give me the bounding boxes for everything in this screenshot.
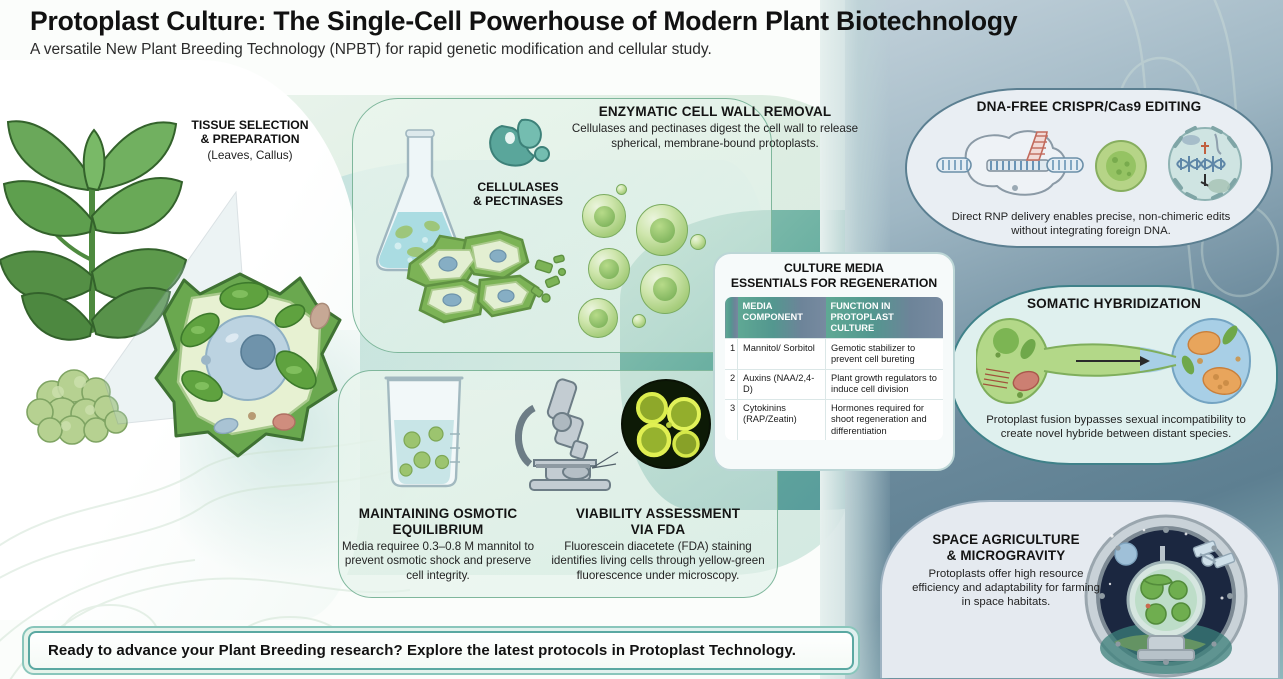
col-function-line1: FUNCTION IN: [831, 301, 939, 312]
col-function-line2: PROTOPLAST CULTURE: [831, 312, 939, 334]
col-component: MEDIA COMPONENT: [738, 297, 826, 339]
cta-text: Ready to advance your Plant Breeding res…: [48, 642, 796, 659]
enzymatic-body: Cellulases and pectinases digest the cel…: [548, 122, 882, 151]
viability-title-line2: VIA FDA: [540, 522, 776, 538]
hybrid-title: SOMATIC HYBRIDIZATION: [952, 296, 1276, 312]
header: Protoplast Culture: The Single-Cell Powe…: [0, 0, 1283, 60]
crispr-body: Direct RNP delivery enables precise, non…: [941, 210, 1241, 238]
protoplast-fusion-illustration: [976, 315, 1258, 407]
tissue-title-line2: & PREPARATION: [152, 132, 348, 146]
row-function: Hormones required for shoot regeneration…: [826, 399, 944, 440]
enzyme-molecule-icon: [484, 118, 552, 178]
space-body: Protoplasts offer high resource efficien…: [908, 567, 1104, 610]
osmotic-title-line2: EQUILIBRIUM: [338, 522, 538, 538]
osmotic-title-line1: MAINTAINING OSMOTIC: [338, 506, 538, 522]
tissue-title-line1: TISSUE SELECTION: [152, 118, 348, 132]
media-table-body: 1 Mannitol/ Sorbitol Gemotic stabilizer …: [725, 339, 944, 441]
infographic-root: Protoplast Culture: The Single-Cell Powe…: [0, 0, 1283, 679]
space-title-line1: SPACE AGRICULTURE: [908, 532, 1104, 548]
row-component: Cytokinins (RAP/Zeatin): [738, 399, 826, 440]
protoplast-sphere-small: [616, 184, 627, 195]
tissue-subtitle: (Leaves, Callus): [152, 148, 348, 163]
col-component-line2: COMPONENT: [743, 312, 821, 323]
table-row: 1 Mannitol/ Sorbitol Gemotic stabilizer …: [725, 339, 944, 369]
beaker-icon: [376, 374, 472, 490]
protoplast-sphere-small: [632, 314, 646, 328]
protoplast-sphere-small: [690, 234, 706, 250]
viability-body: Fluorescein diacetete (FDA) staining ide…: [540, 540, 776, 584]
row-function: Gemotic stabilizer to prevent cell buret…: [826, 339, 944, 369]
col-number: [725, 297, 738, 339]
enzymatic-title: ENZYMATIC CELL WALL REMOVAL: [548, 104, 882, 120]
row-number: 1: [725, 339, 738, 369]
card-somatic-hybridization: SOMATIC HYBRIDIZATION: [950, 285, 1278, 465]
row-component: Auxins (NAA/2,4-D): [738, 369, 826, 399]
label-enzymatic-removal: ENZYMATIC CELL WALL REMOVAL Cellulases a…: [548, 104, 882, 151]
protoplast-sphere: [640, 264, 690, 314]
label-viability-assessment: VIABILITY ASSESSMENT VIA FDA Fluorescein…: [540, 506, 776, 584]
culture-media-card: CULTURE MEDIA ESSENTIALS FOR REGENERATIO…: [713, 252, 955, 471]
row-number: 2: [725, 369, 738, 399]
protoplast-sphere: [636, 204, 688, 256]
protoplast-sphere: [578, 298, 618, 338]
row-component: Mannitol/ Sorbitol: [738, 339, 826, 369]
cta-banner[interactable]: Ready to advance your Plant Breeding res…: [28, 631, 854, 670]
col-function: FUNCTION IN PROTOPLAST CULTURE: [826, 297, 944, 339]
protoplast-sphere: [588, 248, 630, 290]
media-card-title-line1: CULTURE MEDIA: [724, 261, 944, 276]
label-osmotic-equilibrium: MAINTAINING OSMOTIC EQUILIBRIUM Media re…: [338, 506, 538, 584]
media-card-title: CULTURE MEDIA ESSENTIALS FOR REGENERATIO…: [724, 261, 944, 290]
row-number: 3: [725, 399, 738, 440]
cell-wall-digestion-illustration: [396, 216, 576, 336]
media-card-title-line2: ESSENTIALS FOR REGENERATION: [724, 276, 944, 291]
crispr-title: DNA-FREE CRISPR/Cas9 EDITING: [907, 99, 1271, 115]
microscope-icon: [500, 368, 640, 498]
page-title: Protoplast Culture: The Single-Cell Powe…: [30, 6, 1283, 36]
hybrid-body: Protoplast fusion bypasses sexual incomp…: [976, 413, 1256, 442]
viability-title-line1: VIABILITY ASSESSMENT: [540, 506, 776, 522]
table-row: 2 Auxins (NAA/2,4-D) Plant growth regula…: [725, 369, 944, 399]
card-crispr-editing: DNA-FREE CRISPR/Cas9 EDITING: [905, 88, 1273, 248]
crispr-rnp-illustration: [929, 124, 1255, 202]
card-space-agriculture: SPACE AGRICULTURE & MICROGRAVITY Protopl…: [880, 500, 1280, 678]
space-title-line2: & MICROGRAVITY: [908, 548, 1104, 564]
enzymes-label-line2: & PECTINASES: [438, 194, 598, 208]
row-function: Plant growth regulators to induce cell d…: [826, 369, 944, 399]
media-table-header-row: MEDIA COMPONENT FUNCTION IN PROTOPLAST C…: [725, 297, 944, 339]
label-enzymes: CELLULASES & PECTINASES: [438, 180, 598, 209]
page-subtitle: A versatile New Plant Breeding Technolog…: [30, 41, 1283, 60]
col-component-line1: MEDIA: [743, 301, 821, 312]
label-space-agriculture: SPACE AGRICULTURE & MICROGRAVITY Protopl…: [908, 532, 1104, 610]
table-row: 3 Cytokinins (RAP/Zeatin) Hormones requi…: [725, 399, 944, 440]
media-table-head: MEDIA COMPONENT FUNCTION IN PROTOPLAST C…: [725, 297, 944, 339]
enzymes-label-line1: CELLULASES: [438, 180, 598, 194]
media-components-table: MEDIA COMPONENT FUNCTION IN PROTOPLAST C…: [724, 296, 944, 441]
label-tissue-selection: TISSUE SELECTION & PREPARATION (Leaves, …: [152, 118, 348, 163]
fluorescence-field-icon: [620, 378, 712, 470]
space-habitat-illustration: [1082, 512, 1250, 679]
osmotic-body: Media requiree 0.3–0.8 M mannitol to pre…: [338, 540, 538, 584]
plant-cell-diagram: [140, 250, 370, 480]
